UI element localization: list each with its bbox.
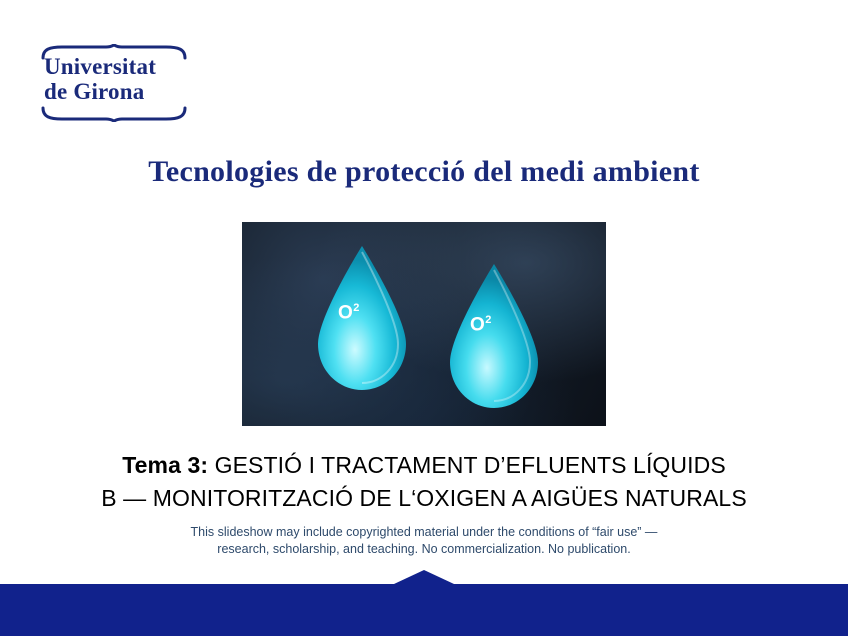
disclaimer-line-1: This slideshow may include copyrighted m… xyxy=(191,525,658,539)
subtitle-line-2: B — MONITORITZACIÓ DE L‘OXIGEN A AIGÜES … xyxy=(0,485,848,512)
copyright-disclaimer: This slideshow may include copyrighted m… xyxy=(0,524,848,558)
page-title: Tecnologies de protecció del medi ambien… xyxy=(0,155,848,189)
illustration-image: O2 O2 xyxy=(242,222,606,426)
disclaimer-line-2: research, scholarship, and teaching. No … xyxy=(217,542,630,556)
subtitle-lead: Tema 3: xyxy=(122,452,208,478)
slide: Universitatde Girona Tecnologies de prot… xyxy=(0,0,848,636)
logo-text: Universitatde Girona xyxy=(44,54,156,104)
logo-brace-bottom-icon xyxy=(40,106,190,122)
subtitle-text-1: GESTIÓ I TRACTAMENT D’EFLUENTS LÍQUIDS xyxy=(215,452,726,478)
illustration-background xyxy=(242,222,606,426)
university-logo: Universitatde Girona xyxy=(40,38,240,128)
drop-label-right: O2 xyxy=(470,314,492,336)
water-drop-right-icon: O2 xyxy=(442,262,546,412)
bottom-banner xyxy=(0,584,848,636)
banner-notch-icon xyxy=(394,570,454,584)
drop-label-left: O2 xyxy=(338,302,360,324)
subtitle-line-1: Tema 3: GESTIÓ I TRACTAMENT D’EFLUENTS L… xyxy=(0,452,848,479)
water-drop-left-icon: O2 xyxy=(310,244,414,394)
